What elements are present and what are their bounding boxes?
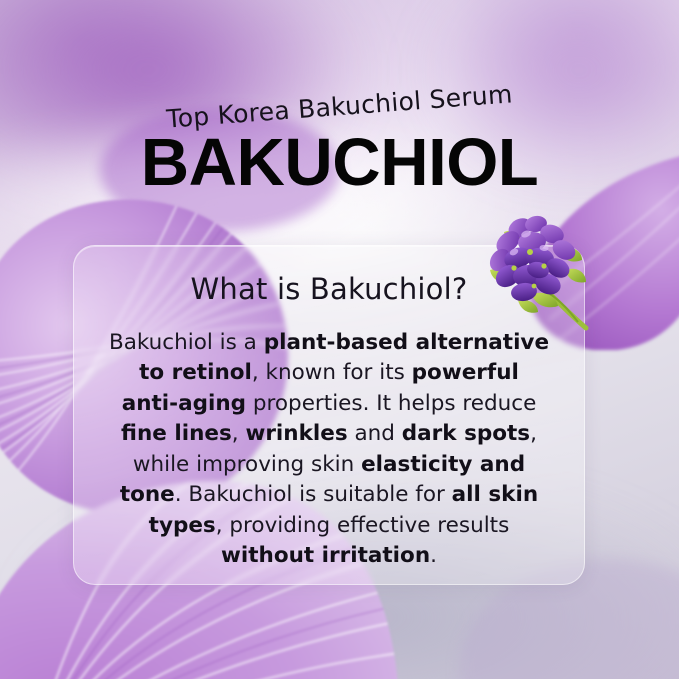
- body-text: . Bakuchiol is suitable for: [175, 482, 452, 507]
- info-card: What is Bakuchiol? Bakuchiol is a plant-…: [73, 245, 585, 585]
- info-card-body: Bakuchiol is a plant-based alternative t…: [108, 328, 550, 572]
- body-emphasis: without irritation: [221, 543, 430, 568]
- headline-block: Top Korea Bakuchiol Serum BAKUCHIOL: [0, 92, 679, 196]
- body-emphasis: dark spots: [402, 421, 530, 446]
- body-text: ,: [232, 421, 246, 446]
- body-emphasis: fine lines: [121, 421, 232, 446]
- body-text: , known for its: [252, 360, 412, 385]
- body-text: properties. It helps reduce: [246, 391, 536, 416]
- body-text: and: [348, 421, 402, 446]
- page-title: BAKUCHIOL: [0, 129, 679, 196]
- promo-graphic: Top Korea Bakuchiol Serum BAKUCHIOL What…: [0, 0, 679, 679]
- info-card-title: What is Bakuchiol?: [108, 272, 550, 306]
- body-text: .: [430, 543, 437, 568]
- body-text: , providing effective results: [216, 513, 510, 538]
- body-text: Bakuchiol is a: [109, 330, 264, 355]
- body-emphasis: wrinkles: [245, 421, 347, 446]
- info-card-content: What is Bakuchiol? Bakuchiol is a plant-…: [74, 246, 584, 584]
